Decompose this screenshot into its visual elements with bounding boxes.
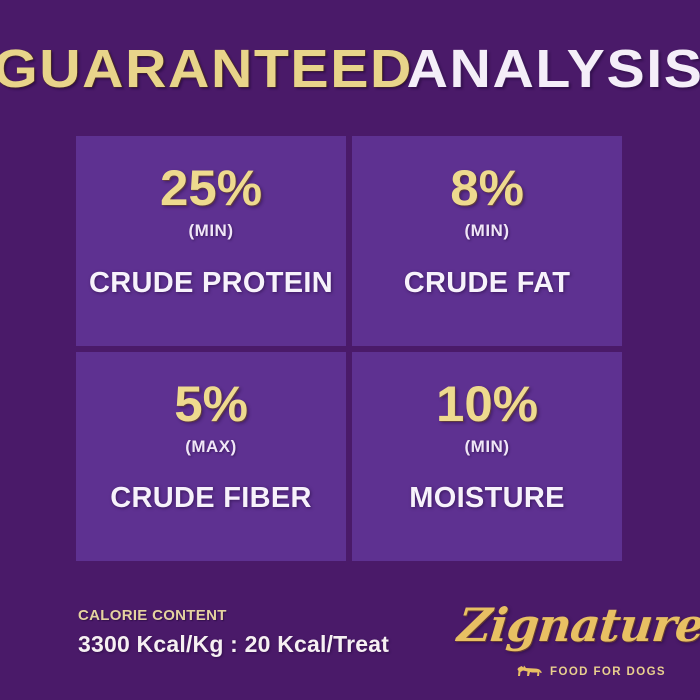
calorie-content-label: CALORIE CONTENT — [78, 608, 389, 623]
percent-value: 10% — [436, 379, 538, 429]
brand-logo: Zignature FOOD FOR DOGS — [458, 602, 668, 682]
percent-value: 8% — [450, 163, 524, 213]
brand-name: Zignature — [456, 602, 671, 648]
calorie-content-value: 3300 Kcal/Kg : 20 Kcal/Treat — [78, 633, 389, 656]
analysis-cell-crude-protein: 25% (MIN) CRUDE PROTEIN — [76, 136, 346, 346]
nutrient-name: CRUDE FIBER — [76, 484, 346, 513]
percent-qualifier: (MIN) — [465, 222, 510, 239]
brand-tagline-row: FOOD FOR DOGS — [517, 665, 666, 680]
dog-silhouette-icon — [517, 665, 543, 680]
nutrient-name: CRUDE FAT — [352, 269, 622, 298]
page-title: GUARANTEEDANALYSIS — [0, 42, 700, 96]
brand-tagline: FOOD FOR DOGS — [550, 667, 666, 679]
guaranteed-analysis-label: GUARANTEEDANALYSIS 25% (MIN) CRUDE PROTE… — [0, 0, 700, 700]
percent-value: 5% — [174, 379, 248, 429]
calorie-content-block: CALORIE CONTENT 3300 Kcal/Kg : 20 Kcal/T… — [78, 608, 389, 656]
percent-value: 25% — [160, 163, 262, 213]
page-title-word-guaranteed: GUARANTEED — [0, 42, 413, 96]
analysis-cell-crude-fat: 8% (MIN) CRUDE FAT — [352, 136, 622, 346]
analysis-cell-moisture: 10% (MIN) MOISTURE — [352, 352, 622, 562]
nutrient-name: MOISTURE — [352, 484, 622, 513]
analysis-grid: 25% (MIN) CRUDE PROTEIN 8% (MIN) CRUDE F… — [76, 136, 622, 561]
percent-qualifier: (MIN) — [189, 222, 234, 239]
percent-qualifier: (MIN) — [465, 438, 510, 455]
page-title-word-analysis: ANALYSIS — [407, 42, 700, 96]
analysis-cell-crude-fiber: 5% (MAX) CRUDE FIBER — [76, 352, 346, 562]
percent-qualifier: (MAX) — [185, 438, 237, 455]
footer: CALORIE CONTENT 3300 Kcal/Kg : 20 Kcal/T… — [0, 596, 700, 700]
nutrient-name: CRUDE PROTEIN — [76, 269, 346, 298]
